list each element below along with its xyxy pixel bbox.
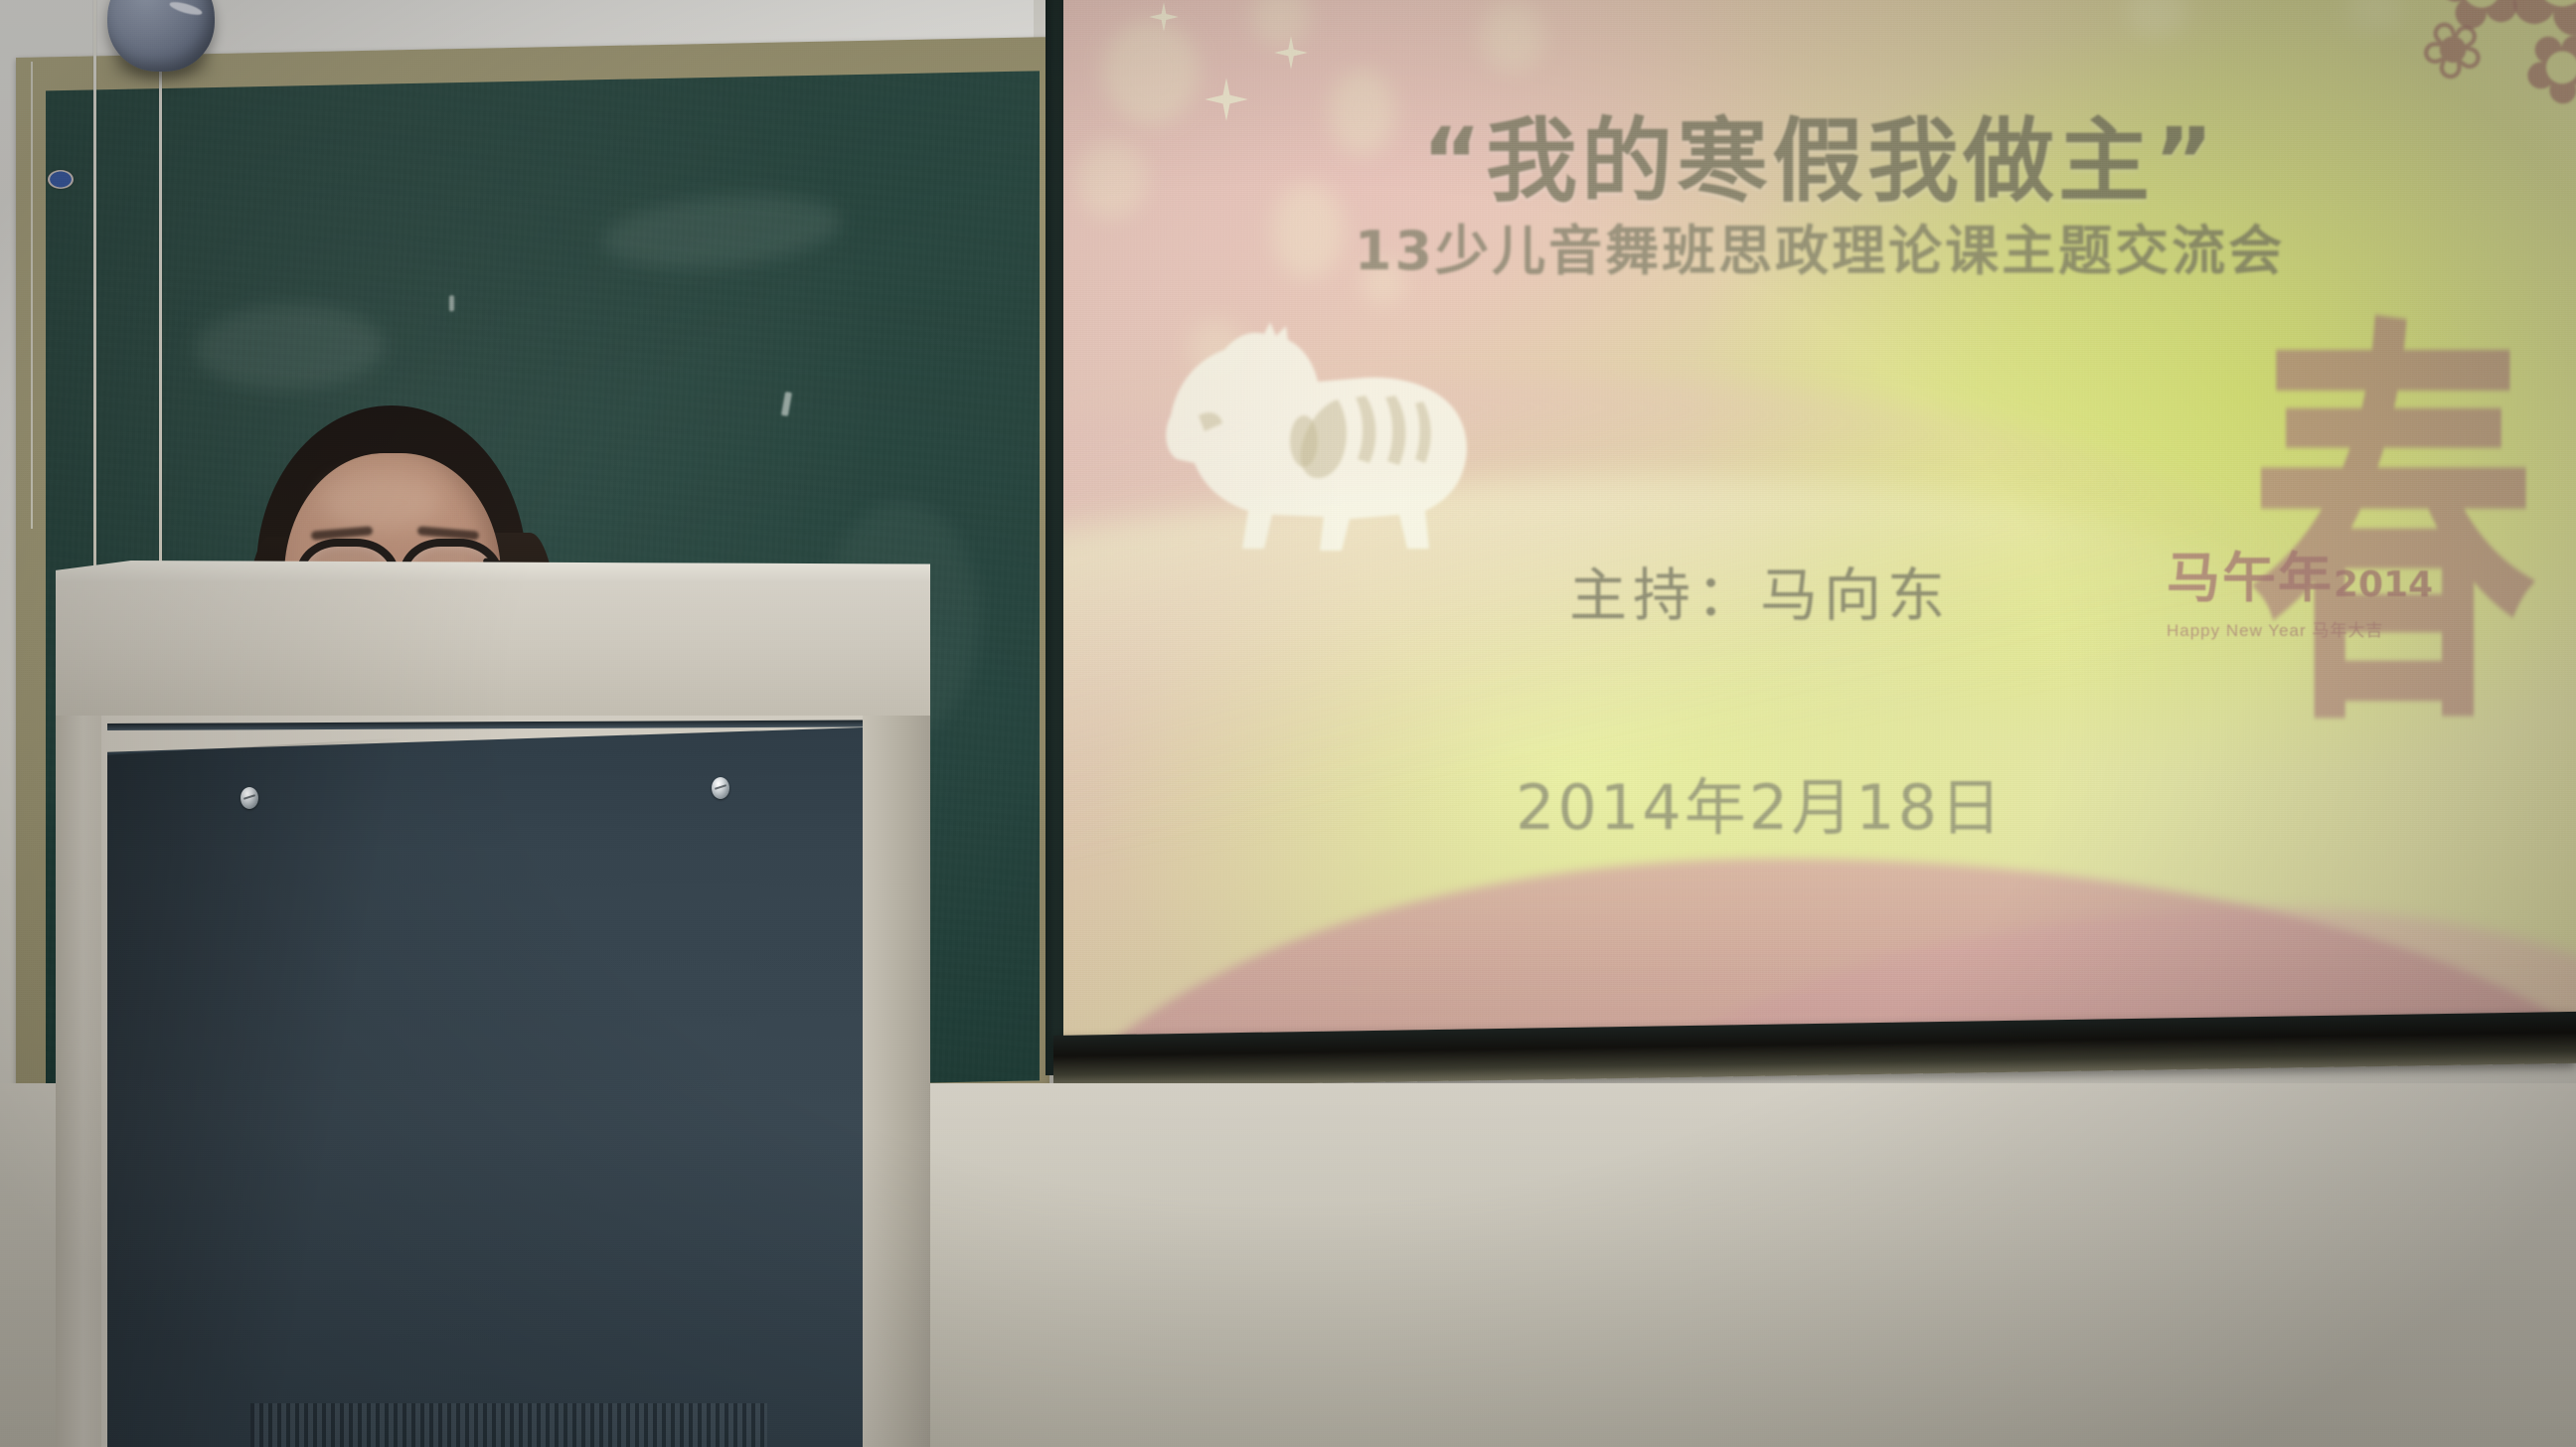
lectern-top-face: [56, 568, 930, 716]
board-sticker: [48, 170, 74, 189]
panel-screw: [241, 787, 258, 809]
lectern-panel-shadow: [107, 730, 405, 1447]
projection-screen: ✿ ✿ ✿ ❀ 春: [1063, 0, 2576, 1057]
screen-left-edge: [1046, 0, 1063, 1075]
panel-screw: [712, 777, 729, 799]
lectern-top-bevel: [56, 561, 930, 582]
lectern: [56, 557, 930, 1447]
chalk-fleck: [449, 295, 454, 311]
speaker-highlight: [168, 0, 203, 18]
screen-cord-thin[interactable]: [31, 62, 33, 529]
classroom-photo: ✿ ✿ ✿ ❀ 春: [0, 0, 2576, 1447]
lectern-vent-grille: [250, 1403, 767, 1447]
lectern-top: [56, 557, 930, 716]
lectern-left-edge: [56, 708, 101, 1447]
lectern-right-edge: [863, 708, 930, 1447]
forehead-highlight: [322, 475, 441, 531]
slide-vignette: [1063, 0, 2576, 1057]
